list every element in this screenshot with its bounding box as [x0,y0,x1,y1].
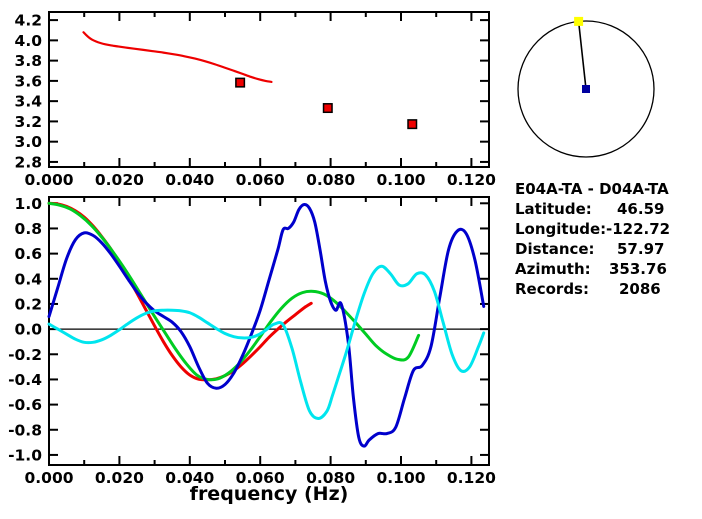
latitude-label: Latitude: [515,200,592,218]
series-phase-velocity-curve [84,32,272,82]
x-tick-label: 0.080 [306,171,355,189]
azimuth-diagram [518,17,654,157]
x-tick-label: 0.100 [376,171,425,189]
x-tick-label: 0.040 [165,171,214,189]
dispersion-plot-series [84,32,417,128]
data-point-marker [236,78,245,87]
station-pair-label: E04A-TA - D04A-TA [515,180,669,198]
distance-label: Distance: [515,240,595,258]
x-axis-title: frequency (Hz) [190,483,349,505]
dispersion-plot: 0.0000.0200.0400.0600.0800.1000.1202.83.… [15,12,497,189]
azimuth-value: 353.76 [609,260,667,278]
y-tick-label: -0.6 [8,396,42,414]
y-tick-label: -0.8 [8,421,42,439]
cross-correlation-plot-series [49,203,484,446]
y-tick-label: 2.8 [15,153,42,171]
azimuth-center-marker [582,85,590,93]
y-tick-label: 3.6 [15,72,42,90]
plot-page: 0.0000.0200.0400.0600.0800.1000.1202.83.… [0,0,702,519]
x-tick-label: 0.000 [24,171,73,189]
distance-value: 57.97 [617,240,664,258]
y-tick-label: 0.4 [15,270,43,288]
y-tick-label: 0.0 [15,321,43,339]
x-tick-label: 0.120 [447,171,496,189]
records-label: Records: [515,280,589,298]
dispersion-plot-ticks [49,12,489,167]
dispersion-plot-tick-labels: 0.0000.0200.0400.0600.0800.1000.1202.83.… [15,12,497,189]
dispersion-plot-frame [49,12,489,167]
x-tick-label: 0.020 [95,171,144,189]
y-tick-label: -0.2 [8,346,42,364]
azimuth-label: Azimuth: [515,260,591,278]
y-tick-label: -1.0 [8,446,42,464]
x-tick-label: 0.020 [95,469,144,487]
latitude-value: 46.59 [617,200,664,218]
azimuth-station-marker [574,17,583,26]
y-tick-label: 1.0 [15,195,43,213]
x-tick-label: 0.100 [376,469,425,487]
y-tick-label: 4.2 [15,12,42,30]
series-green-trace [49,203,419,380]
cross-correlation-plot: 0.0000.0200.0400.0600.0800.1000.120-1.0-… [8,195,496,505]
figure-canvas: 0.0000.0200.0400.0600.0800.1000.1202.83.… [0,0,702,519]
y-tick-label: 3.0 [15,133,43,151]
y-tick-label: 3.4 [15,93,43,111]
y-tick-label: 0.8 [15,220,42,238]
x-tick-label: 0.120 [447,469,496,487]
y-tick-label: 3.8 [15,52,42,70]
info-panel: E04A-TA - D04A-TA Latitude: 46.59 Longit… [515,180,670,298]
data-point-marker [324,104,333,113]
y-tick-label: 0.6 [15,245,42,263]
y-tick-label: -0.4 [8,371,42,389]
azimuth-ray [579,21,586,89]
records-value: 2086 [619,280,661,298]
longitude-value: -122.72 [606,220,670,238]
y-tick-label: 4.0 [15,32,43,50]
y-tick-label: 3.2 [15,113,42,131]
y-tick-label: 0.2 [15,295,42,313]
x-tick-label: 0.000 [24,469,73,487]
data-point-marker [408,120,417,129]
x-tick-label: 0.060 [236,171,285,189]
longitude-label: Longitude: [515,220,606,238]
